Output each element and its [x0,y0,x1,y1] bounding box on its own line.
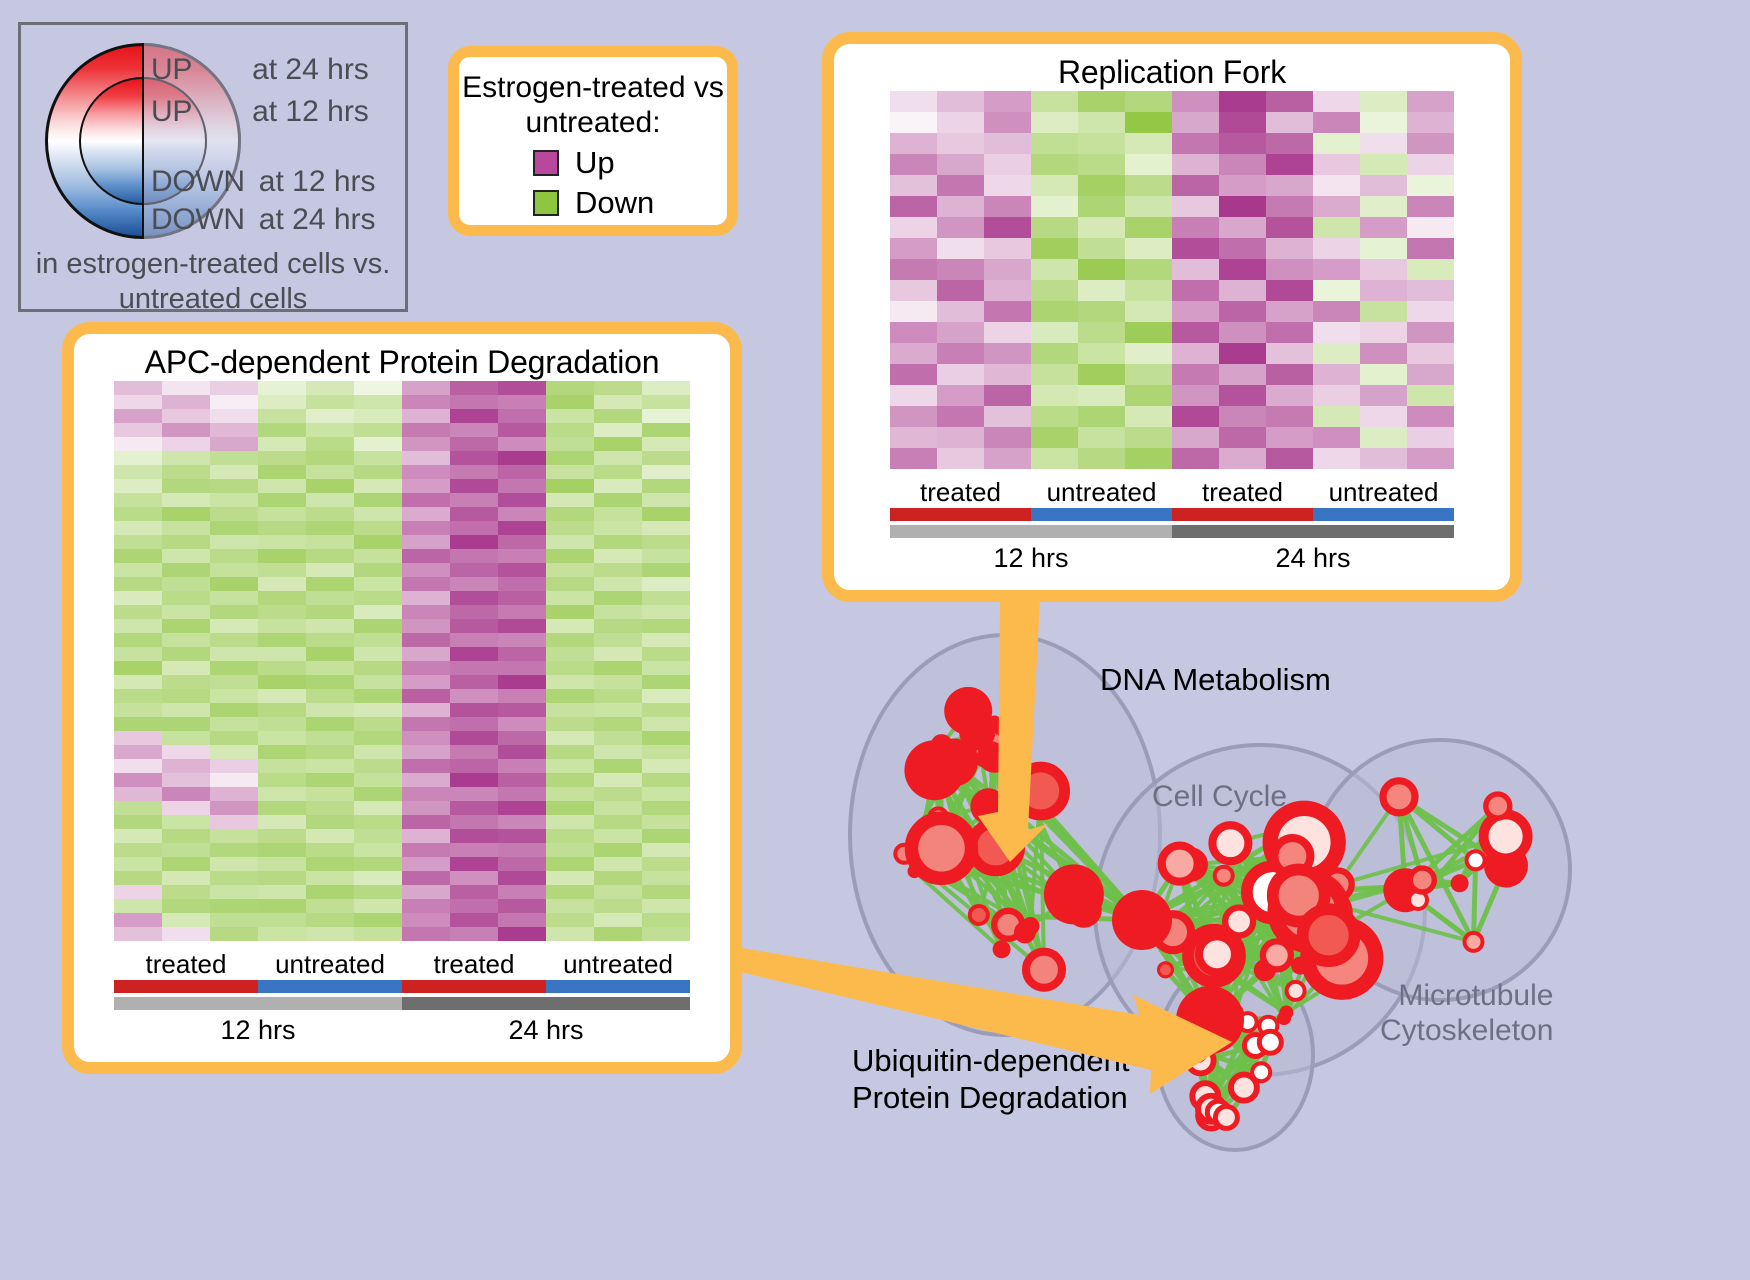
panel-apc-degradation: APC-dependent Protein Degradation treate… [62,322,742,1074]
heatmap-cell [450,815,498,829]
heatmap-cell [890,259,937,280]
heatmap-cell [162,913,210,927]
heatmap-cell [258,717,306,731]
heatmap-cell [306,689,354,703]
heatmap-cell [1078,154,1125,175]
heatmap-cell [450,465,498,479]
heatmap-cell [1360,217,1407,238]
heatmap-cell [210,857,258,871]
heatmap-cell [642,731,690,745]
heatmap-cell [546,885,594,899]
heatmap-cell [162,493,210,507]
heatmap-cell [210,619,258,633]
heatmap-cell [546,647,594,661]
estrogen-legend-title: Estrogen-treated vs untreated: [459,71,727,141]
heatmap-cell [1125,112,1172,133]
heatmap-cell [402,381,450,395]
heatmap-cell [546,535,594,549]
heatmap-cell [114,885,162,899]
heatmap-cell [1125,133,1172,154]
heatmap-cell [354,423,402,437]
heatmap-cell [450,521,498,535]
heatmap-cell [594,451,642,465]
heatmap-cell [210,717,258,731]
heatmap-cell [1266,448,1313,469]
heatmap-cell [402,843,450,857]
heatmap-cell [498,479,546,493]
heatmap-cell [258,507,306,521]
network-node[interactable] [1484,814,1528,858]
heatmap-cell [1407,217,1454,238]
network-node[interactable] [912,818,972,878]
heatmap-cell [1125,385,1172,406]
heatmap-cell [114,871,162,885]
heatmap-cell [642,843,690,857]
network-edge [1474,860,1476,942]
heatmap-cell [1360,301,1407,322]
heatmap-cell [114,857,162,871]
heatmap-cell [498,885,546,899]
heatmap-cell [210,703,258,717]
heatmap-cell [258,913,306,927]
heatmap-cell [306,745,354,759]
heatmap-cell [594,549,642,563]
heatmap-cell [1078,280,1125,301]
heatmap-cell [594,717,642,731]
group-labels: treateduntreatedtreateduntreated [114,949,690,980]
heatmap-cell [498,465,546,479]
heatmap-cell [1125,196,1172,217]
heatmap-cell [306,913,354,927]
heatmap-cell [1078,133,1125,154]
heatmap-cell [258,773,306,787]
heatmap-cell [354,661,402,675]
heatmap-cell [162,563,210,577]
heatmap-cell [306,759,354,773]
heatmap-cell [546,423,594,437]
heatmap-cell [162,521,210,535]
heatmap-cell [1172,322,1219,343]
heatmap-cell [354,871,402,885]
network-node[interactable] [1112,890,1172,950]
heatmap-cell [402,899,450,913]
heatmap-cell [258,633,306,647]
heatmap-cell [258,605,306,619]
heatmap-cell [1172,217,1219,238]
heatmap-cell [162,703,210,717]
heatmap-cell [1078,406,1125,427]
heatmap-cell [354,759,402,773]
heatmap-cell [258,591,306,605]
heatmap-cell [546,773,594,787]
network-node[interactable] [1467,851,1485,869]
heatmap-cell [258,661,306,675]
heatmap-cell [402,395,450,409]
group-labels: treateduntreatedtreateduntreated [890,477,1454,508]
heatmap-cell [546,521,594,535]
heatmap-cell [306,927,354,941]
treatment-color-bar [890,508,1454,521]
heatmap-cell [354,465,402,479]
heatmap-cell [306,899,354,913]
heatmap-cell [498,395,546,409]
heatmap-cell [354,479,402,493]
heatmap-cell [498,633,546,647]
heatmap-cell [1078,385,1125,406]
heatmap-cell [594,731,642,745]
heatmap-cell [1172,259,1219,280]
heatmap-cell [354,843,402,857]
heatmap-cell [1407,238,1454,259]
heatmap-cell [162,423,210,437]
heatmap-cell [114,465,162,479]
heatmap-cell [1407,343,1454,364]
heatmap-cell [402,423,450,437]
heatmap-cell [1031,280,1078,301]
heatmap-cell [937,364,984,385]
heatmap-cell [1078,343,1125,364]
legend-time: at 12 hrs [259,165,376,199]
network-node[interactable] [1465,933,1483,951]
heatmap-cell [594,927,642,941]
panel-title-replication-fork: Replication Fork [834,44,1510,91]
heatmap-cell [306,801,354,815]
heatmap-cell [162,871,210,885]
heatmap-cell [114,521,162,535]
heatmap-cell [1219,112,1266,133]
heatmap-cell [1172,364,1219,385]
heatmap-cell [210,787,258,801]
heatmap-cell [498,787,546,801]
heatmap-cell [1313,301,1360,322]
heatmap-cell [984,112,1031,133]
heatmap-cell [498,745,546,759]
heatmap-cell [546,731,594,745]
network-node[interactable] [1014,921,1036,943]
network-node[interactable] [1215,867,1233,885]
heatmap-cell [594,675,642,689]
legend-row-up-12: UP at 12 hrs [151,95,369,129]
network-node[interactable] [1159,963,1173,977]
heatmap-cell [354,675,402,689]
network-node[interactable] [1277,1011,1291,1025]
heatmap-cell [984,259,1031,280]
heatmap-cell [306,423,354,437]
heatmap-cell [402,577,450,591]
heatmap-cell [306,885,354,899]
heatmap-cell [354,493,402,507]
heatmap-apc-degradation [114,381,690,941]
heatmap-cell [642,675,690,689]
network-node[interactable] [1263,941,1291,969]
heatmap-cell [306,619,354,633]
timepoint-bar-segment-0 [114,997,402,1010]
heatmap-cell [984,133,1031,154]
heatmap-cell [937,322,984,343]
heatmap-cell [210,577,258,591]
heatmap-cell [642,465,690,479]
heatmap-cell [498,521,546,535]
heatmap-cell [594,437,642,451]
heatmap-cell [210,633,258,647]
heatmap-cell [594,493,642,507]
heatmap-cell [1266,343,1313,364]
heatmap-cell [258,927,306,941]
heatmap-cell [1360,91,1407,112]
network-node[interactable] [1199,936,1235,972]
heatmap-cell [402,689,450,703]
heatmap-cell [162,549,210,563]
heatmap-cell [306,731,354,745]
heatmap-cell [258,437,306,451]
heatmap-cell [306,815,354,829]
heatmap-cell [1219,259,1266,280]
heatmap-cell [306,437,354,451]
heatmap-cell [354,451,402,465]
heatmap-cell [402,885,450,899]
heatmap-cell [210,647,258,661]
heatmap-cell [594,661,642,675]
colorwheel-legend-footer: in estrogen-treated cells vs. untreated … [21,247,405,318]
heatmap-cell [890,385,937,406]
network-node[interactable] [1212,825,1248,861]
heatmap-cell [890,196,937,217]
heatmap-cell [1266,196,1313,217]
heatmap-cell [1031,364,1078,385]
heatmap-cell [306,843,354,857]
heatmap-cell [162,479,210,493]
heatmap-cell [114,843,162,857]
heatmap-cell [498,913,546,927]
heatmap-cell [546,787,594,801]
heatmap-cell [642,409,690,423]
heatmap-cell [546,829,594,843]
heatmap-cell [354,815,402,829]
heatmap-cell [1360,112,1407,133]
heatmap-cell [1219,175,1266,196]
heatmap-cell [162,745,210,759]
heatmap-cell [162,717,210,731]
heatmap-cell [1407,322,1454,343]
heatmap-cell [402,549,450,563]
heatmap-cell [402,675,450,689]
heatmap-cell [642,563,690,577]
network-node[interactable] [1162,846,1198,882]
heatmap-cell [258,479,306,493]
network-node[interactable] [1017,767,1065,815]
heatmap-cell [642,759,690,773]
heatmap-cell [258,675,306,689]
heatmap-cell [642,885,690,899]
heatmap-cell [258,451,306,465]
network-node[interactable] [1026,952,1062,988]
network-node[interactable] [1486,794,1510,818]
heatmap-cell [162,633,210,647]
network-node[interactable] [1383,781,1415,813]
heatmap-cell [498,717,546,731]
legend-row-down-12: DOWN at 12 hrs [151,165,376,199]
heatmap-cell [1266,259,1313,280]
heatmap-cell [498,535,546,549]
heatmap-cell [1031,385,1078,406]
heatmap-cell [1172,448,1219,469]
heatmap-cell [498,451,546,465]
network-node[interactable] [1231,1075,1257,1101]
heatmap-cell [546,437,594,451]
heatmap-cell [1125,322,1172,343]
heatmap-cell [306,605,354,619]
heatmap-replication-fork [890,91,1454,469]
heatmap-cell [937,301,984,322]
heatmap-cell [1313,112,1360,133]
heatmap-cell [594,787,642,801]
heatmap-cell [354,927,402,941]
network-node[interactable] [993,940,1011,958]
heatmap-cell [1172,343,1219,364]
heatmap-cell [1266,301,1313,322]
network-node[interactable] [1287,982,1305,1000]
heatmap-cell [1266,133,1313,154]
heatmap-cell [450,563,498,577]
heatmap-cell [354,885,402,899]
heatmap-cell [354,787,402,801]
heatmap-cell [114,577,162,591]
heatmap-cell [594,815,642,829]
heatmap-cell [984,154,1031,175]
heatmap-cell [402,619,450,633]
heatmap-cell [890,427,937,448]
network-node[interactable] [1066,892,1102,928]
heatmap-cell [1407,280,1454,301]
heatmap-cell [546,451,594,465]
heatmap-cell [498,661,546,675]
heatmap-cell [306,563,354,577]
heatmap-cell [1407,385,1454,406]
heatmap-cell [1313,238,1360,259]
heatmap-cell [450,717,498,731]
heatmap-cell [937,448,984,469]
heatmap-cell [1266,91,1313,112]
heatmap-cell [210,451,258,465]
network-node[interactable] [1410,868,1434,892]
heatmap-cell [642,787,690,801]
heatmap-cell [1360,238,1407,259]
heatmap-cell [402,703,450,717]
heatmap-cell [1313,175,1360,196]
heatmap-cell [546,493,594,507]
network-node[interactable] [970,906,988,924]
heatmap-cell [1313,196,1360,217]
group-label-untreated-1: untreated [1031,477,1172,508]
heatmap-cell [1078,91,1125,112]
timepoint-labels: 12 hrs24 hrs [114,1015,690,1046]
heatmap-cell [1313,385,1360,406]
heatmap-cell [546,591,594,605]
heatmap-cell [114,927,162,941]
heatmap-cell [594,409,642,423]
heatmap-cell [546,927,594,941]
heatmap-cell [890,301,937,322]
heatmap-cell [642,381,690,395]
heatmap-cell [450,381,498,395]
heatmap-cell [1407,301,1454,322]
heatmap-cell [984,238,1031,259]
heatmap-cell [210,815,258,829]
heatmap-cell [1125,301,1172,322]
network-node[interactable] [970,788,1006,824]
heatmap-cell [1172,238,1219,259]
heatmap-cell [114,913,162,927]
heatmap-cell [594,591,642,605]
heatmap-cell [402,437,450,451]
heatmap-cell [890,280,937,301]
network-node[interactable] [1215,1106,1237,1128]
heatmap-cell [642,605,690,619]
heatmap-cell [1031,196,1078,217]
heatmap-cell [402,521,450,535]
heatmap-cell [258,689,306,703]
network-node[interactable] [959,714,995,750]
down-color-swatch [533,190,559,216]
treatment-bar-segment-1 [258,980,402,993]
heatmap-cell [546,409,594,423]
heatmap-cell [642,591,690,605]
heatmap-cell [1360,427,1407,448]
heatmap-cell [1031,133,1078,154]
heatmap-cell [306,451,354,465]
heatmap-cell [114,689,162,703]
heatmap-cell [306,647,354,661]
heatmap-cell [498,843,546,857]
network-node[interactable] [972,823,1020,871]
heatmap-cell [114,815,162,829]
heatmap-cell [594,913,642,927]
pathway-network-graph [790,620,1750,1280]
heatmap-cell [210,465,258,479]
heatmap-cell [114,591,162,605]
heatmap-cell [1172,175,1219,196]
heatmap-cell [1360,385,1407,406]
heatmap-cell [162,535,210,549]
heatmap-cell [1407,154,1454,175]
heatmap-cell [258,493,306,507]
network-node[interactable] [1259,1031,1281,1053]
network-node[interactable] [1303,909,1355,961]
heatmap-cell [450,647,498,661]
heatmap-cell [1172,154,1219,175]
heatmap-cell [402,493,450,507]
heatmap-cell [162,381,210,395]
heatmap-cell [450,493,498,507]
heatmap-cell [402,857,450,871]
heatmap-cell [1360,406,1407,427]
heatmap-cell [1266,406,1313,427]
heatmap-cell [1031,259,1078,280]
heatmap-cell [984,385,1031,406]
heatmap-cell [306,787,354,801]
network-node[interactable] [1176,986,1244,1054]
heatmap-cell [354,717,402,731]
network-node[interactable] [1451,874,1469,892]
heatmap-cell [546,633,594,647]
heatmap-cell [162,843,210,857]
heatmap-cell [354,647,402,661]
up-color-swatch [533,150,559,176]
heatmap-cell [162,605,210,619]
heatmap-cell [594,577,642,591]
heatmap-cell [1360,196,1407,217]
heatmap-cell [1407,175,1454,196]
